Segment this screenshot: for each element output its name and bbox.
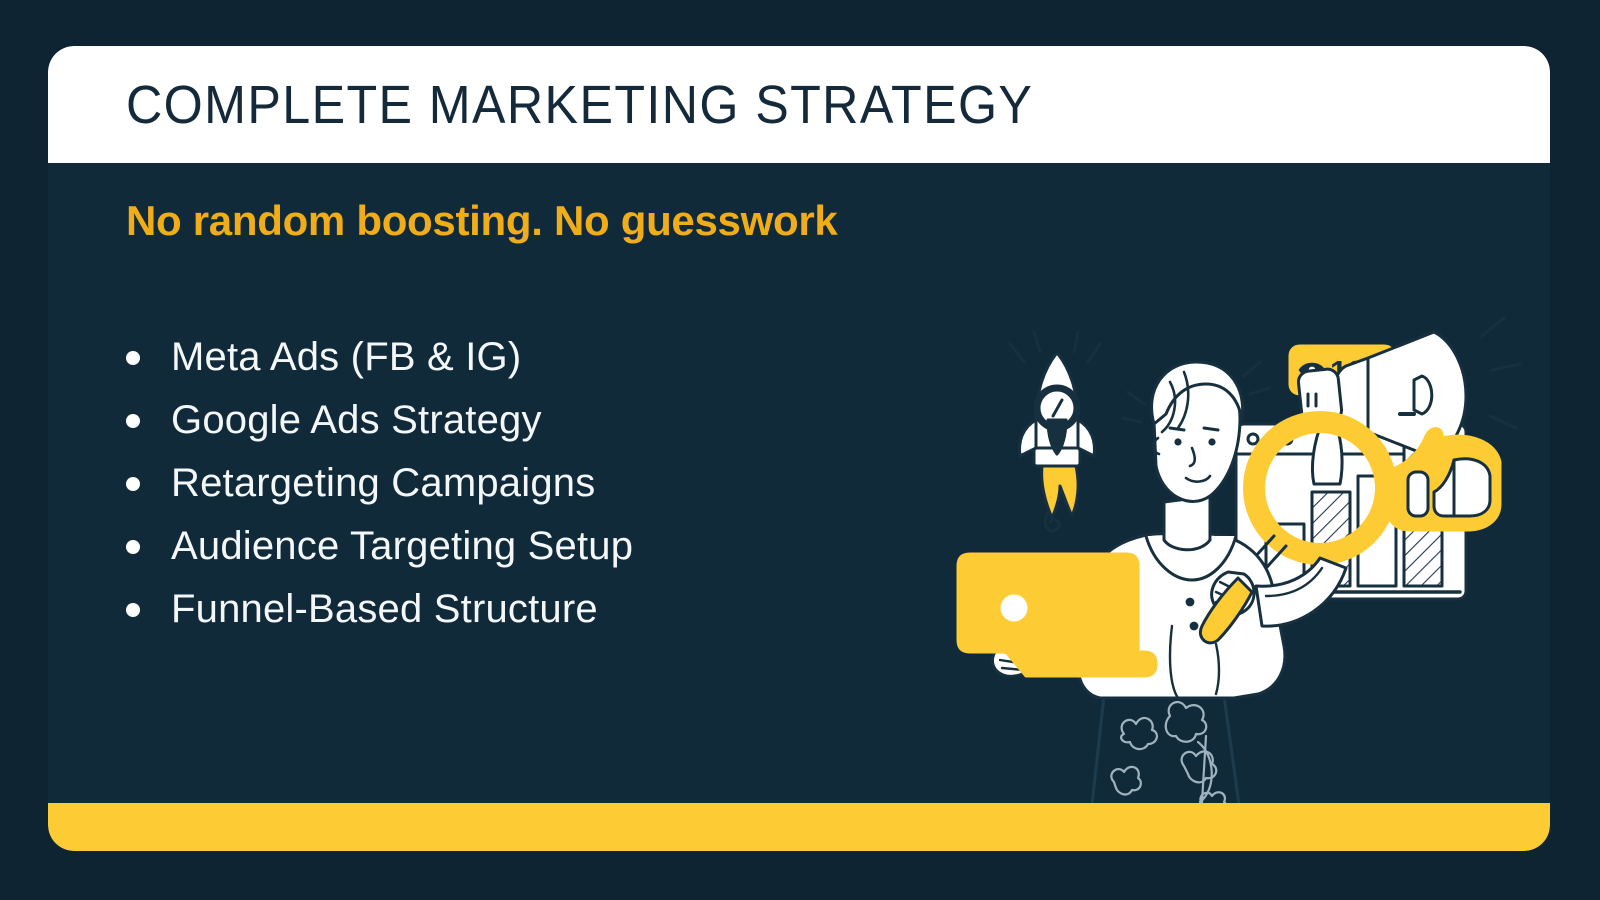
list-item: Google Ads Strategy — [126, 389, 633, 452]
feature-list: Meta Ads (FB & IG) Google Ads Strategy R… — [126, 326, 633, 641]
list-item: Meta Ads (FB & IG) — [126, 326, 633, 389]
list-item: Audience Targeting Setup — [126, 515, 633, 578]
bullet-dot-icon — [126, 351, 140, 365]
list-item-label: Audience Targeting Setup — [171, 524, 633, 569]
list-item-label: Google Ads Strategy — [171, 398, 542, 443]
subtitle: No random boosting. No guesswork — [126, 197, 837, 245]
bullet-dot-icon — [126, 540, 140, 554]
header-band: COMPLETE MARKETING STRATEGY — [48, 46, 1550, 163]
list-item-label: Meta Ads (FB & IG) — [171, 335, 521, 380]
list-item: Funnel-Based Structure — [126, 578, 633, 641]
footer-accent-bar — [48, 803, 1550, 851]
bullet-dot-icon — [126, 603, 140, 617]
laptop-icon — [958, 554, 1156, 676]
content-card: COMPLETE MARKETING STRATEGY No random bo… — [48, 46, 1550, 851]
list-item-label: Funnel-Based Structure — [171, 587, 598, 632]
page-title: COMPLETE MARKETING STRATEGY — [126, 74, 1033, 136]
list-item: Retargeting Campaigns — [126, 452, 633, 515]
bullet-dot-icon — [126, 477, 140, 491]
list-item-label: Retargeting Campaigns — [171, 461, 595, 506]
slide-root: COMPLETE MARKETING STRATEGY No random bo… — [0, 0, 1600, 900]
person-illustration: 1000 — [948, 296, 1528, 841]
rocket-icon — [1010, 332, 1100, 531]
bullet-dot-icon — [126, 414, 140, 428]
